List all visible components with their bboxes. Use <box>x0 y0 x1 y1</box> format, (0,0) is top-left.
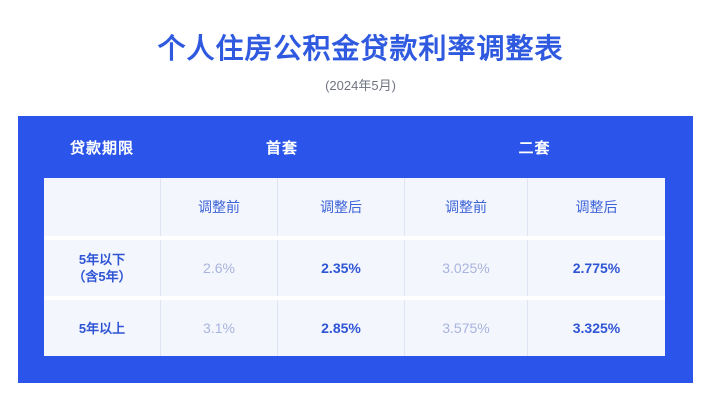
cell-loan-term: 5年以下 （含5年） <box>44 240 160 296</box>
subheader-first-before: 调整前 <box>160 178 277 236</box>
infographic-root: 个人住房公积金贷款利率调整表 (2024年5月) 贷款期限 首套 二套 调整前 … <box>0 0 721 410</box>
loan-term-line2: （含5年） <box>72 268 131 285</box>
subheader-second-after: 调整后 <box>527 178 665 236</box>
cell-second-before: 3.575% <box>404 300 527 356</box>
cell-first-before: 3.1% <box>160 300 277 356</box>
page-subtitle: (2024年5月) <box>0 77 721 95</box>
subheader-blank <box>44 178 160 236</box>
page-title: 个人住房公积金贷款利率调整表 <box>0 30 721 68</box>
cell-first-after: 2.85% <box>277 300 404 356</box>
cell-second-before: 3.025% <box>404 240 527 296</box>
rate-table: 调整前 调整后 调整前 调整后 5年以下 （含5年） 2.6% 2.35% 3.… <box>44 178 665 356</box>
loan-term-line1: 5年以下 <box>72 251 131 268</box>
cell-second-after: 2.775% <box>527 240 665 296</box>
title-block: 个人住房公积金贷款利率调整表 (2024年5月) <box>0 30 721 95</box>
group-header-loan-term: 贷款期限 <box>44 116 160 178</box>
table-subheader-row: 调整前 调整后 调整前 调整后 <box>44 178 665 236</box>
subheader-first-after: 调整后 <box>277 178 404 236</box>
cell-first-before: 2.6% <box>160 240 277 296</box>
table-row: 5年以下 （含5年） 2.6% 2.35% 3.025% 2.775% <box>44 240 665 296</box>
table-group-header-row: 贷款期限 首套 二套 <box>18 116 693 178</box>
cell-loan-term: 5年以上 <box>44 300 160 356</box>
rate-table-panel: 贷款期限 首套 二套 调整前 调整后 调整前 调整后 5年以下 （含5年） <box>18 116 693 383</box>
subheader-second-before: 调整前 <box>404 178 527 236</box>
cell-first-after: 2.35% <box>277 240 404 296</box>
group-header-first-home: 首套 <box>160 116 404 178</box>
table-row: 5年以上 3.1% 2.85% 3.575% 3.325% <box>44 300 665 356</box>
loan-term-line1: 5年以上 <box>79 320 125 337</box>
cell-second-after: 3.325% <box>527 300 665 356</box>
group-header-second-home: 二套 <box>404 116 665 178</box>
